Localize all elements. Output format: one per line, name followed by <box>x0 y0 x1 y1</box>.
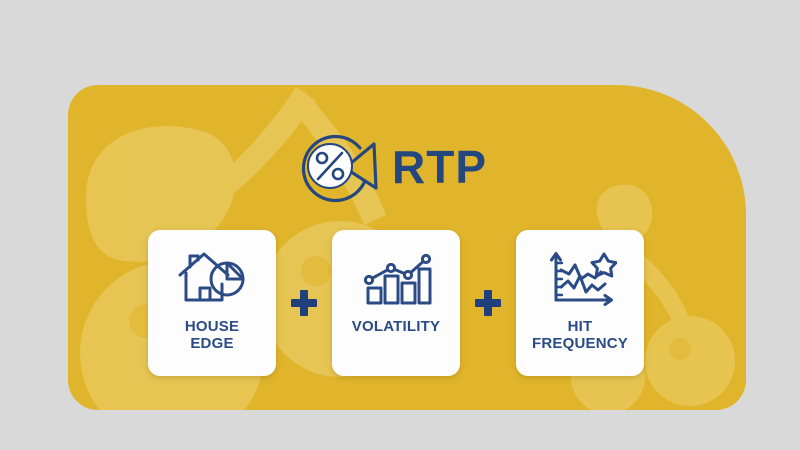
card-label-volatility: VOLATILITY <box>348 318 444 335</box>
formula-row: HOUSE EDGE <box>148 230 644 376</box>
card-hit-frequency[interactable]: HIT FREQUENCY <box>516 230 644 376</box>
house-pie-chart-icon <box>175 248 249 308</box>
card-house-edge[interactable]: HOUSE EDGE <box>148 230 276 376</box>
bar-chart-trend-line-icon <box>359 248 433 308</box>
rtp-percent-return-arrow-icon <box>288 126 384 206</box>
rtp-header: RTP <box>288 126 503 206</box>
card-volatility[interactable]: VOLATILITY <box>332 230 460 376</box>
zigzag-line-chart-star-icon <box>543 248 617 308</box>
card-label-hit-frequency: HIT FREQUENCY <box>528 318 632 353</box>
page-title: RTP <box>392 144 487 190</box>
plus-operator-1 <box>291 290 317 316</box>
infographic-stage: RTP <box>0 0 800 450</box>
card-label-house-edge: HOUSE EDGE <box>181 318 243 353</box>
plus-operator-2 <box>475 290 501 316</box>
